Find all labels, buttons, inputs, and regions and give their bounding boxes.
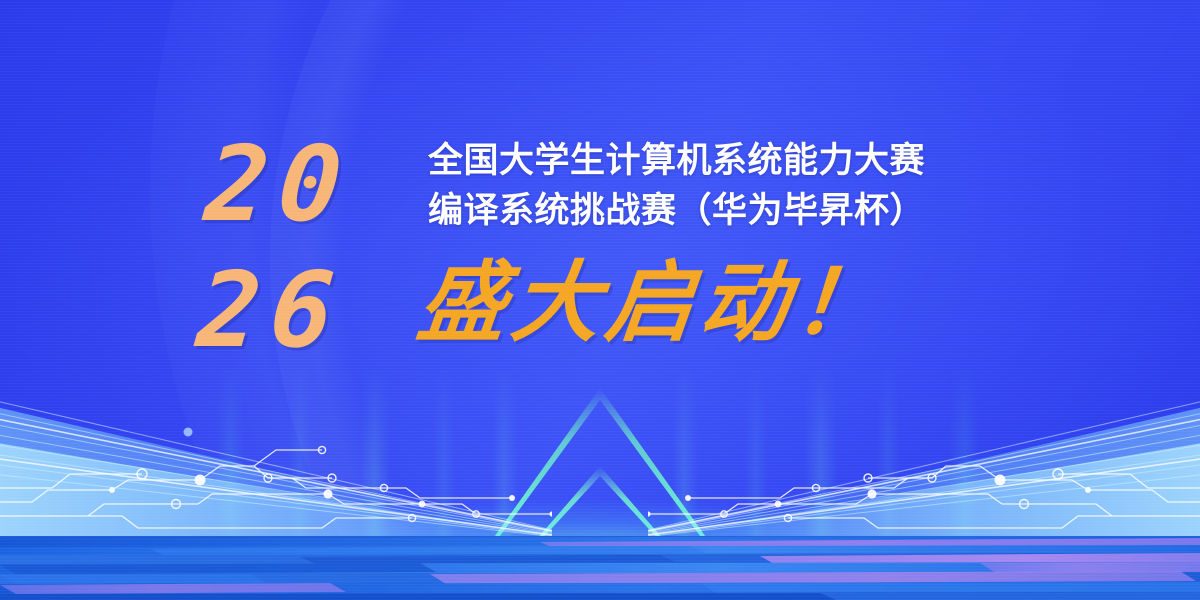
- headline-block: 20 26 全国大学生计算机系统能力大赛 编译系统挑战赛（华为毕昇杯） 盛大启动…: [0, 0, 1200, 600]
- year-line-1: 20: [201, 132, 355, 236]
- year-line-2: 26: [193, 258, 347, 362]
- event-banner: 20 26 全国大学生计算机系统能力大赛 编译系统挑战赛（华为毕昇杯） 盛大启动…: [0, 0, 1200, 600]
- subtitle-line-1: 全国大学生计算机系统能力大赛: [428, 136, 925, 186]
- subtitle-line-2: 编译系统挑战赛（华为毕昇杯）: [428, 186, 925, 236]
- slogan-text: 盛大启动！: [413, 259, 892, 347]
